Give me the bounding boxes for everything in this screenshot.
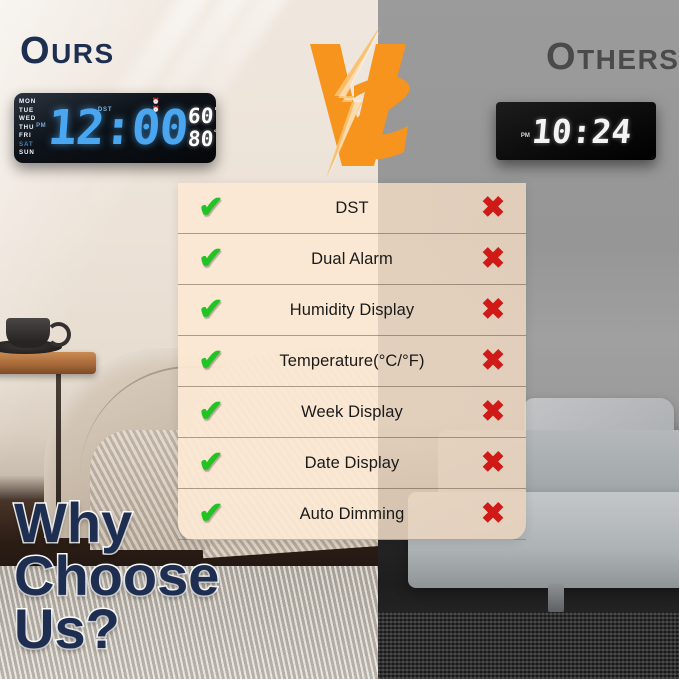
others-heading-rest: THERS — [577, 44, 679, 75]
feature-label: Date Display — [244, 454, 460, 473]
tagline-line-2: Choose — [14, 549, 219, 602]
feature-label: DST — [244, 199, 460, 218]
rug-right — [378, 612, 679, 679]
feature-row: ✔Date Display✖ — [178, 438, 526, 489]
our-clock-time: 12:00 — [46, 104, 189, 152]
others-cross-icon: ✖ — [460, 245, 526, 274]
others-heading: OTHERS — [546, 36, 679, 79]
vs-badge-icon — [296, 26, 424, 178]
feature-label: Week Display — [244, 403, 460, 422]
our-clock-time-area: DST 12:00 — [48, 104, 188, 152]
humidity-value: 60 — [188, 106, 215, 127]
others-cross-icon: ✖ — [460, 347, 526, 376]
alarm-bell-icon: ⏰ — [152, 107, 159, 113]
ours-heading-capital: O — [20, 30, 51, 72]
tagline-line-3: Us? — [14, 602, 219, 655]
humidity-readout: 60 % — [188, 106, 216, 127]
feature-row: ✔Week Display✖ — [178, 387, 526, 438]
others-cross-icon: ✖ — [460, 194, 526, 223]
ours-heading-rest: URS — [51, 38, 115, 69]
ours-check-icon: ✔ — [178, 295, 244, 325]
tagline-line-1: Why — [14, 496, 219, 549]
cup-handle — [46, 322, 71, 347]
feature-row: ✔Auto Dimming✖ — [178, 489, 526, 540]
our-clock-device: MON TUE WED THU FRI SAT SUN PM DST 12:00… — [14, 93, 216, 163]
weekday-wed: WED — [19, 115, 36, 124]
humidity-unit: % — [215, 107, 216, 114]
temperature-readout: 80 °F — [188, 129, 216, 150]
ours-check-icon: ✔ — [178, 244, 244, 274]
sofa-right-leg — [548, 584, 564, 612]
others-cross-icon: ✖ — [460, 500, 526, 529]
others-clock-device: PM 10:24 — [496, 102, 656, 160]
feature-comparison-panel: ✔DST✖✔Dual Alarm✖✔Humidity Display✖✔Temp… — [178, 183, 526, 540]
feature-label: Temperature(°C/°F) — [244, 352, 460, 371]
ours-check-icon: ✔ — [178, 397, 244, 427]
others-heading-capital: O — [546, 36, 577, 78]
feature-row: ✔DST✖ — [178, 183, 526, 234]
feature-row: ✔Dual Alarm✖ — [178, 234, 526, 285]
feature-row: ✔Humidity Display✖ — [178, 285, 526, 336]
temperature-value: 80 — [187, 129, 214, 150]
our-clock-readouts: 60 % 80 °F — [188, 93, 216, 163]
ours-check-icon: ✔ — [178, 448, 244, 478]
side-table — [0, 352, 96, 374]
weekday-sun: SUN — [19, 149, 36, 158]
weekday-sat: SAT — [19, 141, 36, 150]
weekday-mon: MON — [19, 98, 36, 107]
weekday-fri: FRI — [19, 132, 36, 141]
others-clock-time: 10:24 — [530, 112, 633, 151]
feature-label: Humidity Display — [244, 301, 460, 320]
alarm-bell-icon: ⏰ — [152, 99, 159, 105]
ours-check-icon: ✔ — [178, 346, 244, 376]
others-pm-indicator: PM — [521, 133, 530, 139]
feature-row: ✔Temperature(°C/°F)✖ — [178, 336, 526, 387]
coffee-cup — [6, 318, 50, 348]
why-choose-us-tagline: Why Choose Us? — [14, 496, 219, 655]
weekday-indicator-list: MON TUE WED THU FRI SAT SUN — [14, 93, 36, 163]
weekday-tue: TUE — [19, 107, 36, 116]
feature-label: Auto Dimming — [244, 505, 460, 524]
others-cross-icon: ✖ — [460, 398, 526, 427]
ours-heading: OURS — [20, 30, 115, 73]
others-cross-icon: ✖ — [460, 296, 526, 325]
others-cross-icon: ✖ — [460, 449, 526, 478]
alarm-bell-icons: ⏰ ⏰ — [152, 99, 159, 113]
feature-label: Dual Alarm — [244, 250, 460, 269]
comparison-infographic: OURS OTHERS MON TUE WED THU FRI SAT SUN … — [0, 0, 679, 679]
ours-check-icon: ✔ — [178, 193, 244, 223]
pm-indicator: PM — [36, 123, 46, 129]
temperature-unit: °F — [214, 130, 216, 137]
weekday-thu: THU — [19, 124, 36, 133]
